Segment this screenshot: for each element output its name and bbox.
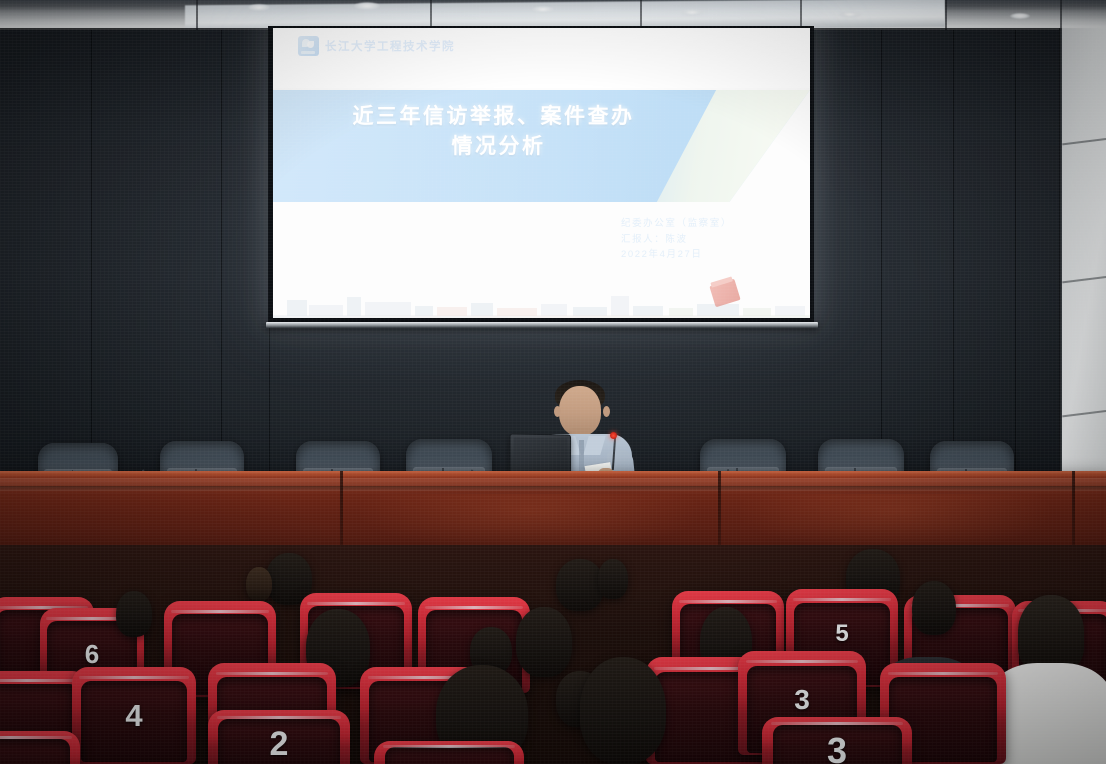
- head-table-highlight: [0, 478, 1106, 494]
- recessed-downlight: [354, 2, 380, 10]
- audience-head: [556, 559, 604, 611]
- slide-logo: 长江大学工程技术学院: [298, 36, 455, 56]
- seat-trim: [79, 676, 188, 679]
- seat-number: 3: [762, 730, 912, 764]
- recessed-downlight: [680, 9, 704, 16]
- slide-title: 近三年信访举报、案件查办 情况分析: [273, 102, 810, 162]
- audience-seating: 6 5: [0, 545, 1106, 764]
- seat-trim: [171, 610, 270, 613]
- audience-head: [912, 581, 956, 635]
- seat-cushion: [385, 747, 514, 764]
- audience-seat[interactable]: [0, 731, 80, 764]
- audience-seat[interactable]: 4: [72, 667, 196, 764]
- audience-head: [1018, 595, 1084, 671]
- audience-head: [580, 657, 666, 764]
- seat-number: 3: [738, 684, 866, 716]
- presenter-ear-right: [603, 406, 610, 417]
- recessed-downlight: [532, 6, 554, 13]
- seat-number: 2: [208, 725, 350, 764]
- seat-trim: [679, 600, 778, 603]
- recessed-downlight: [1010, 13, 1030, 19]
- conference-room-photo: 长江大学工程技术学院 近三年信访举报、案件查办 情况分析 纪委办公室（监察室） …: [0, 0, 1106, 764]
- seat-number: 4: [72, 698, 196, 734]
- slide-subtitle: 纪委办公室（监察室） 汇报人：陈波 2022年4月27日: [621, 216, 732, 263]
- seat-trim: [771, 722, 903, 725]
- projector-screen-bottom-bar: [266, 322, 818, 328]
- seat-trim: [793, 598, 892, 601]
- audience-seat[interactable]: [374, 741, 524, 764]
- slide-logo-text: 长江大学工程技术学院: [325, 38, 455, 54]
- presenter: [528, 380, 638, 480]
- slide-subtitle-department: 纪委办公室（监察室）: [621, 216, 732, 232]
- slide-subtitle-presenter: 汇报人：陈波: [621, 232, 732, 248]
- presenter-ear-left: [554, 406, 561, 417]
- seat-trim: [383, 745, 515, 748]
- seat-trim: [307, 602, 406, 605]
- audience-head: [516, 607, 572, 677]
- seat-trim: [425, 606, 524, 609]
- audience-head: [116, 591, 152, 637]
- audience-seat[interactable]: 3: [762, 717, 912, 764]
- slide-title-line-1: 近三年信访举报、案件查办: [273, 102, 714, 132]
- recessed-downlight: [248, 4, 270, 11]
- projector-screen: 长江大学工程技术学院 近三年信访举报、案件查办 情况分析 纪委办公室（监察室） …: [273, 28, 810, 318]
- seat-number: 6: [40, 639, 144, 670]
- seat-trim: [888, 672, 999, 675]
- audience-head: [598, 559, 628, 599]
- audience-head: [246, 567, 272, 601]
- slide-header: 长江大学工程技术学院: [273, 28, 810, 88]
- seat-trim: [216, 672, 329, 675]
- seat-trim: [746, 660, 859, 663]
- recessed-downlight: [838, 11, 862, 18]
- seat-trim: [217, 716, 342, 719]
- slide-subtitle-date: 2022年4月27日: [621, 247, 732, 263]
- audience-seat[interactable]: 2: [208, 710, 350, 764]
- seat-trim: [0, 679, 81, 682]
- slide-title-line-2: 情况分析: [273, 132, 714, 162]
- skyline-ground: [273, 315, 810, 318]
- seat-number: 5: [786, 620, 898, 648]
- seat-cushion: [0, 739, 70, 764]
- seat-trim: [0, 736, 72, 739]
- institution-logo-icon: [298, 36, 319, 56]
- microphone-led-icon: [610, 432, 617, 439]
